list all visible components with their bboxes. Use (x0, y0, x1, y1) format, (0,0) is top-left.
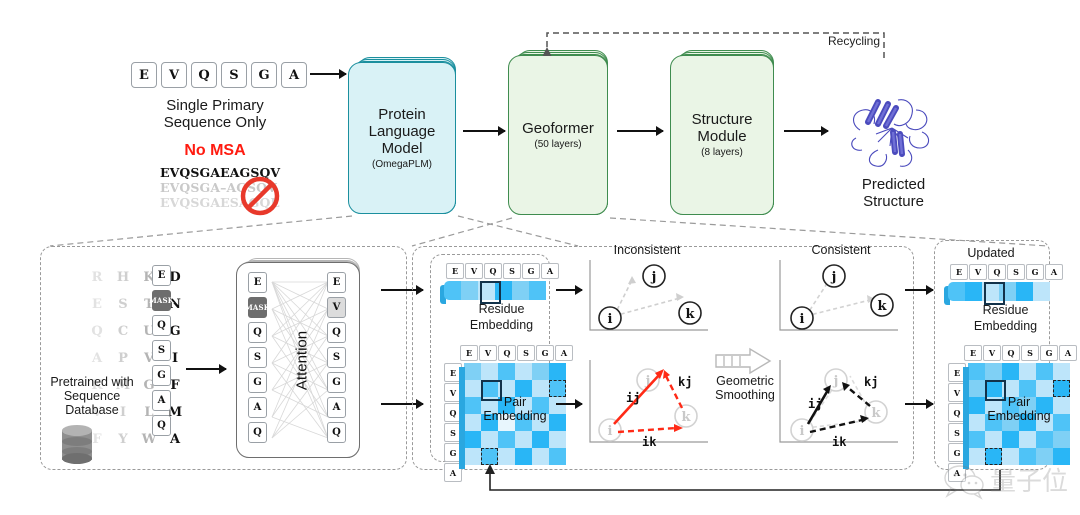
watermark-text: 量子位 (990, 467, 1068, 497)
feedback-loop-arrow (0, 0, 1080, 515)
watermark-qbitai: 量子位 (938, 458, 1073, 504)
